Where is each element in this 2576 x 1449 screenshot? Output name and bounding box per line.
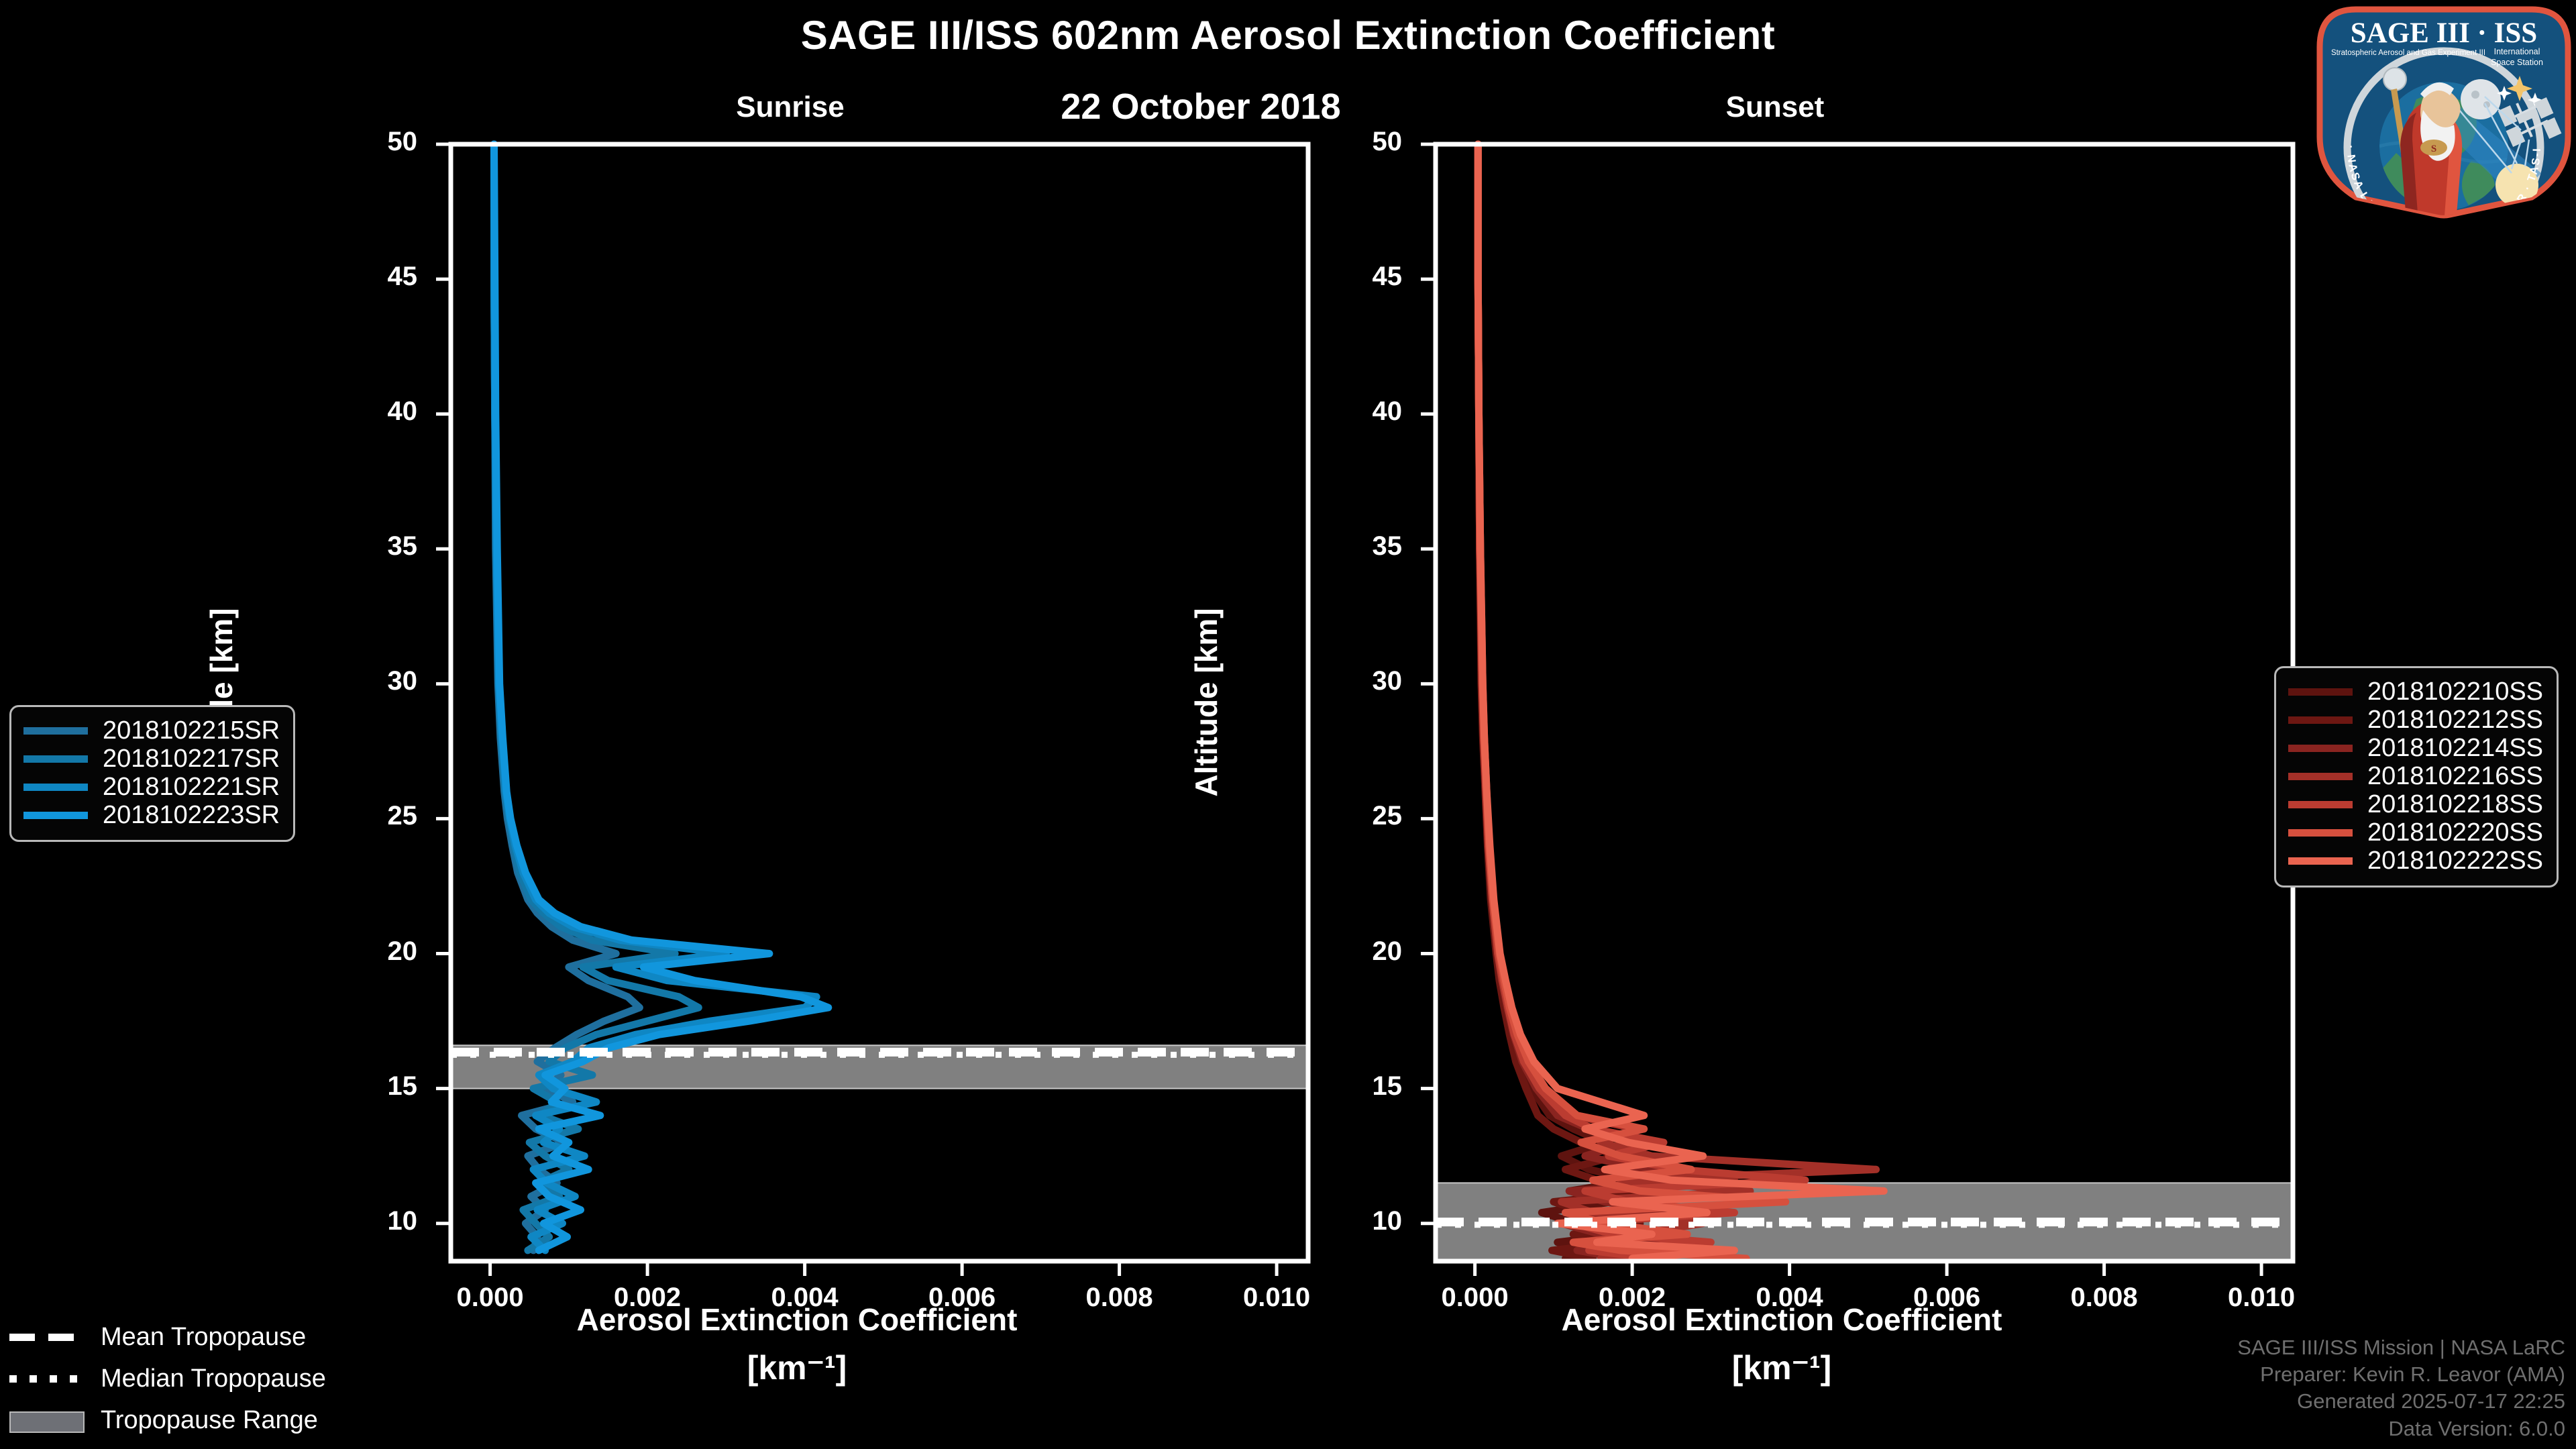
y-tick-label: 15	[297, 1071, 417, 1102]
y-tick-label: 25	[297, 801, 417, 831]
legend-item-2018102223SR[interactable]: 2018102223SR	[23, 801, 280, 829]
credits-generated: Generated 2025-07-17 22:25	[2237, 1388, 2565, 1415]
y-tick-label: 30	[297, 666, 417, 696]
y-tick-label: 40	[297, 396, 417, 427]
legend-item-2018102212SS[interactable]: 2018102212SS	[2288, 706, 2543, 734]
legend-line-icon	[2288, 745, 2353, 752]
legend-label: 2018102223SR	[103, 801, 280, 830]
legend-item-median-tropopause: Median Tropopause	[9, 1358, 326, 1399]
legend-item-2018102218SS[interactable]: 2018102218SS	[2288, 790, 2543, 818]
legend-line-icon	[2288, 857, 2353, 865]
legend-label: 2018102216SS	[2367, 762, 2543, 791]
sage-iii-iss-logo: S BALL · NASA LANGLEY RESEARCH CENTER · …	[2316, 5, 2572, 219]
legend-item-2018102214SS[interactable]: 2018102214SS	[2288, 734, 2543, 762]
credits-mission: SAGE III/ISS Mission | NASA LaRC	[2237, 1334, 2565, 1361]
legend-label: 2018102215SR	[103, 716, 280, 745]
sunset-panel	[1421, 144, 2293, 1276]
y-tick-label: 35	[297, 531, 417, 561]
logo-title: SAGE III · ISS	[2351, 17, 2537, 49]
x-tick-label: 0.002	[1572, 1283, 1693, 1313]
legend-line-icon	[2288, 829, 2353, 837]
legend-line-icon	[23, 755, 88, 763]
moon-icon	[2461, 79, 2501, 119]
y-tick-label: 45	[1281, 262, 1402, 292]
logo-subtitle-right-2: Space Station	[2491, 58, 2543, 67]
y-tick-label: 20	[297, 936, 417, 967]
sunrise-legend[interactable]: 2018102215SR2018102217SR2018102221SR2018…	[9, 705, 295, 842]
legend-item-2018102220SS[interactable]: 2018102220SS	[2288, 818, 2543, 847]
legend-line-icon	[2288, 688, 2353, 696]
legend-line-icon	[23, 784, 88, 791]
legend-label: 2018102218SS	[2367, 790, 2543, 819]
credits-preparer: Preparer: Kevin R. Leavor (AMA)	[2237, 1361, 2565, 1388]
legend-item-mean-tropopause: Mean Tropopause	[9, 1316, 326, 1358]
sunset-legend[interactable]: 2018102210SS2018102212SS2018102214SS2018…	[2274, 666, 2559, 888]
dashed-line-icon	[9, 1327, 85, 1347]
legend-label: 2018102222SS	[2367, 847, 2543, 875]
x-tick-label: 0.004	[745, 1283, 865, 1313]
logo-subtitle-left: Stratospheric Aerosol and Gas Experiment…	[2331, 49, 2485, 57]
x-tick-label: 0.010	[2201, 1283, 2322, 1313]
mean-tropopause-label: Mean Tropopause	[101, 1323, 306, 1352]
x-tick-label: 0.010	[1216, 1283, 1337, 1313]
svg-text:S: S	[2431, 144, 2436, 154]
y-tick-label: 30	[1281, 666, 1402, 696]
y-tick-label: 45	[297, 262, 417, 292]
legend-item-tropopause-range: Tropopause Range	[9, 1399, 326, 1441]
legend-item-2018102210SS[interactable]: 2018102210SS	[2288, 678, 2543, 706]
legend-item-2018102215SR[interactable]: 2018102215SR	[23, 716, 280, 745]
legend-item-2018102222SS[interactable]: 2018102222SS	[2288, 847, 2543, 875]
x-tick-label: 0.008	[1059, 1283, 1180, 1313]
band-swatch-icon	[9, 1410, 85, 1430]
legend-line-icon	[23, 727, 88, 735]
y-tick-label: 10	[297, 1206, 417, 1236]
y-tick-label: 20	[1281, 936, 1402, 967]
tropopause-range-label: Tropopause Range	[101, 1406, 318, 1435]
logo-subtitle-right-1: International	[2494, 47, 2540, 56]
credits-block: SAGE III/ISS Mission | NASA LaRC Prepare…	[2237, 1334, 2565, 1442]
y-tick-label: 10	[1281, 1206, 1402, 1236]
sunset-x-axis-unit: [km⁻¹]	[1406, 1348, 2157, 1387]
sunset-y-axis-label: Altitude [km]	[1188, 535, 1224, 870]
sunrise-panel	[436, 144, 1308, 1276]
legend-label: 2018102214SS	[2367, 734, 2543, 763]
tropopause-legend: Mean Tropopause Median Tropopause Tropop…	[9, 1316, 326, 1441]
legend-line-icon	[23, 812, 88, 819]
x-tick-label: 0.004	[1729, 1283, 1850, 1313]
y-tick-label: 35	[1281, 531, 1402, 561]
series-line-2018102214SS	[1478, 144, 1734, 1258]
y-tick-label: 40	[1281, 396, 1402, 427]
legend-item-2018102221SR[interactable]: 2018102221SR	[23, 773, 280, 801]
legend-label: 2018102210SS	[2367, 678, 2543, 706]
x-tick-label: 0.006	[1886, 1283, 2007, 1313]
credits-data-version: Data Version: 6.0.0	[2237, 1415, 2565, 1442]
figure-canvas: SAGE III/ISS 602nm Aerosol Extinction Co…	[0, 0, 2576, 1449]
x-tick-label: 0.000	[1415, 1283, 1536, 1313]
x-tick-label: 0.008	[2044, 1283, 2165, 1313]
y-tick-label: 50	[297, 127, 417, 157]
y-tick-label: 15	[1281, 1071, 1402, 1102]
legend-line-icon	[2288, 716, 2353, 724]
y-tick-label: 25	[1281, 801, 1402, 831]
sunrise-x-axis-unit: [km⁻¹]	[421, 1348, 1173, 1387]
legend-label: 2018102212SS	[2367, 706, 2543, 735]
dotted-line-icon	[9, 1368, 85, 1389]
legend-line-icon	[2288, 801, 2353, 808]
legend-item-2018102216SS[interactable]: 2018102216SS	[2288, 762, 2543, 790]
x-tick-label: 0.002	[587, 1283, 708, 1313]
legend-label: 2018102221SR	[103, 773, 280, 802]
x-tick-label: 0.006	[902, 1283, 1022, 1313]
legend-label: 2018102217SR	[103, 745, 280, 773]
legend-line-icon	[2288, 773, 2353, 780]
median-tropopause-label: Median Tropopause	[101, 1364, 326, 1393]
legend-label: 2018102220SS	[2367, 818, 2543, 847]
x-tick-label: 0.000	[430, 1283, 551, 1313]
y-tick-label: 50	[1281, 127, 1402, 157]
legend-item-2018102217SR[interactable]: 2018102217SR	[23, 745, 280, 773]
